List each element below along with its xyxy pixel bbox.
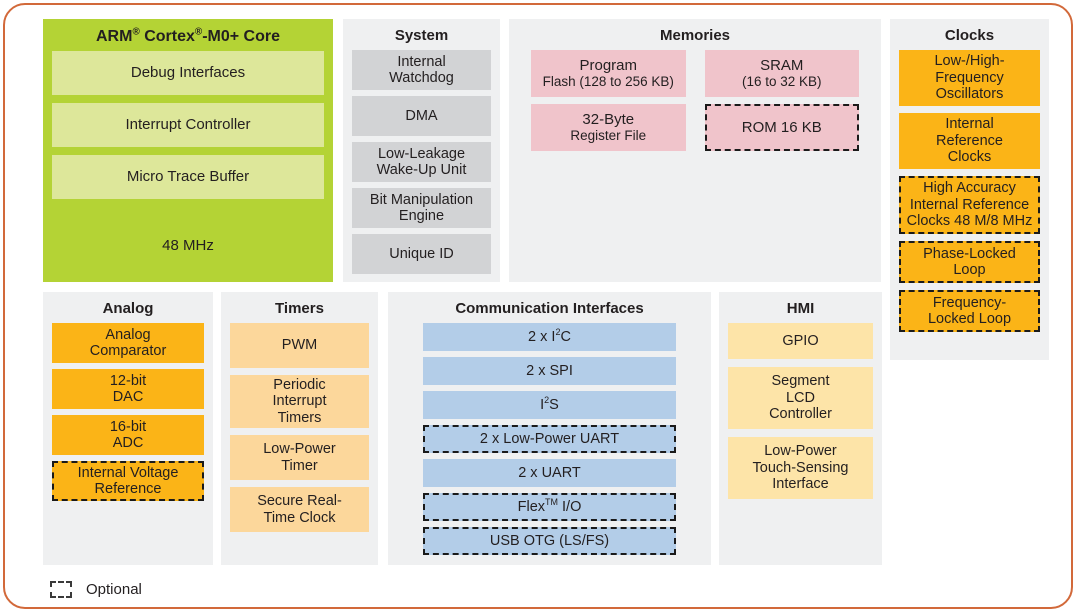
block-label: Low-PowerTimer [263, 441, 336, 474]
diagram-frame: ARM® Cortex®-M0+ Core Debug InterfacesIn… [3, 3, 1073, 609]
block-label: 2 x SPI [526, 363, 573, 380]
panel-communication-interfaces: Communication Interfaces 2 x I2C2 x SPII… [388, 292, 711, 565]
block-item: I2S [423, 391, 676, 419]
panel-hmi: HMI GPIOSegmentLCDControllerLow-PowerTou… [719, 292, 882, 565]
block-label: InternalWatchdog [389, 54, 454, 87]
block-diagram: ARM® Cortex®-M0+ Core Debug InterfacesIn… [43, 19, 1049, 565]
block-label: Low-/High-FrequencyOscillators [934, 53, 1004, 103]
panel-timers: Timers PWMPeriodicInterruptTimersLow-Pow… [221, 292, 378, 565]
block-label: Bit ManipulationEngine [370, 192, 473, 225]
block-item: ProgramFlash (128 to 256 KB) [531, 50, 686, 97]
block-label: High AccuracyInternal ReferenceClocks 48… [907, 180, 1033, 230]
core-frequency-label: 48 MHz [43, 237, 333, 254]
panel-system: System InternalWatchdogDMALow-LeakageWak… [343, 19, 500, 282]
block-item: Bit ManipulationEngine [352, 188, 491, 228]
block-item: InternalReferenceClocks [899, 113, 1040, 169]
block-label-secondary: Register File [570, 128, 646, 144]
block-label: Micro Trace Buffer [127, 169, 249, 186]
block-item: High AccuracyInternal ReferenceClocks 48… [899, 176, 1040, 234]
block-item: 16-bitADC [52, 415, 204, 455]
block-label-primary: Program [579, 57, 637, 74]
block-label: InternalReferenceClocks [936, 116, 1003, 166]
arm-core-block-list: Debug InterfacesInterrupt ControllerMicr… [43, 51, 333, 199]
legend-optional-swatch-icon [50, 581, 72, 598]
block-item: Low-PowerTimer [230, 435, 369, 480]
block-item: 12-bitDAC [52, 369, 204, 409]
analog-block-list: AnalogComparator12-bitDAC16-bitADCIntern… [43, 323, 213, 501]
block-label: Low-PowerTouch-SensingInterface [753, 443, 849, 493]
block-label-secondary: Flash (128 to 256 KB) [543, 74, 674, 90]
block-item: 2 x UART [423, 459, 676, 487]
clocks-block-list: Low-/High-FrequencyOscillatorsInternalRe… [890, 50, 1049, 332]
block-label-secondary: (16 to 32 KB) [742, 74, 822, 90]
timers-block-list: PWMPeriodicInterruptTimersLow-PowerTimer… [221, 323, 378, 532]
block-item: InternalWatchdog [352, 50, 491, 90]
panel-title-system: System [343, 19, 500, 50]
block-label-primary: 32-Byte [582, 111, 634, 128]
block-item: 2 x SPI [423, 357, 676, 385]
legend-optional-label: Optional [86, 581, 142, 598]
block-label: Frequency-Locked Loop [928, 295, 1011, 328]
panel-clocks: Clocks Low-/High-FrequencyOscillatorsInt… [890, 19, 1049, 360]
panel-title-memories: Memories [509, 19, 881, 50]
block-label: Phase-LockedLoop [923, 246, 1016, 279]
panel-title-timers: Timers [221, 292, 378, 323]
block-item: DMA [352, 96, 491, 136]
panel-title-analog: Analog [43, 292, 213, 323]
block-label: USB OTG (LS/FS) [490, 533, 609, 550]
panel-arm-core: ARM® Cortex®-M0+ Core Debug InterfacesIn… [43, 19, 333, 282]
block-label: Secure Real-Time Clock [257, 493, 342, 526]
block-item: Micro Trace Buffer [52, 155, 324, 199]
panel-title-arm-core: ARM® Cortex®-M0+ Core [43, 19, 333, 51]
block-item: Phase-LockedLoop [899, 241, 1040, 283]
block-item: 32-ByteRegister File [531, 104, 686, 151]
block-label: Debug Interfaces [131, 65, 245, 82]
block-item: Low-LeakageWake-Up Unit [352, 142, 491, 182]
block-item: SegmentLCDController [728, 367, 873, 429]
block-label: 16-bitADC [110, 419, 146, 452]
block-item: Secure Real-Time Clock [230, 487, 369, 532]
block-label: I2S [540, 397, 559, 414]
communication-block-list: 2 x I2C2 x SPII2S2 x Low-Power UART2 x U… [388, 323, 711, 555]
block-label: 2 x Low-Power UART [480, 431, 619, 448]
block-label: 2 x I2C [528, 329, 571, 346]
block-item: 2 x I2C [423, 323, 676, 351]
hmi-block-list: GPIOSegmentLCDControllerLow-PowerTouch-S… [719, 323, 882, 499]
block-item: Debug Interfaces [52, 51, 324, 95]
block-item: GPIO [728, 323, 873, 359]
block-item: ROM 16 KB [705, 104, 860, 151]
memories-block-grid: ProgramFlash (128 to 256 KB)SRAM(16 to 3… [509, 50, 881, 151]
block-label: PWM [282, 337, 317, 354]
panel-title-communication-interfaces: Communication Interfaces [388, 292, 711, 323]
block-label: 2 x UART [518, 465, 581, 482]
block-item: Internal VoltageReference [52, 461, 204, 501]
block-label: Interrupt Controller [125, 117, 250, 134]
block-item: SRAM(16 to 32 KB) [705, 50, 860, 97]
block-label: DMA [405, 108, 437, 125]
block-label-primary: SRAM [760, 57, 803, 74]
block-label: PeriodicInterruptTimers [273, 377, 327, 427]
block-item: PeriodicInterruptTimers [230, 375, 369, 428]
panel-title-hmi: HMI [719, 292, 882, 323]
block-label: GPIO [782, 333, 818, 350]
block-label: Internal VoltageReference [78, 465, 179, 498]
system-block-list: InternalWatchdogDMALow-LeakageWake-Up Un… [343, 50, 500, 274]
block-item: Unique ID [352, 234, 491, 274]
panel-title-clocks: Clocks [890, 19, 1049, 50]
block-label: AnalogComparator [90, 327, 167, 360]
block-item: USB OTG (LS/FS) [423, 527, 676, 555]
block-label: FlexTM I/O [518, 499, 582, 516]
block-item: Low-/High-FrequencyOscillators [899, 50, 1040, 106]
block-label: 12-bitDAC [110, 373, 146, 406]
block-item: PWM [230, 323, 369, 368]
block-label: Low-LeakageWake-Up Unit [377, 146, 467, 179]
block-label: SegmentLCDController [769, 373, 832, 423]
panel-memories: Memories ProgramFlash (128 to 256 KB)SRA… [509, 19, 881, 282]
panel-analog: Analog AnalogComparator12-bitDAC16-bitAD… [43, 292, 213, 565]
block-item: AnalogComparator [52, 323, 204, 363]
block-item: Low-PowerTouch-SensingInterface [728, 437, 873, 499]
block-item: Frequency-Locked Loop [899, 290, 1040, 332]
block-label: Unique ID [389, 246, 453, 263]
block-item: Interrupt Controller [52, 103, 324, 147]
legend: Optional [50, 581, 142, 598]
block-label-primary: ROM 16 KB [742, 119, 822, 136]
block-item: 2 x Low-Power UART [423, 425, 676, 453]
block-item: FlexTM I/O [423, 493, 676, 521]
